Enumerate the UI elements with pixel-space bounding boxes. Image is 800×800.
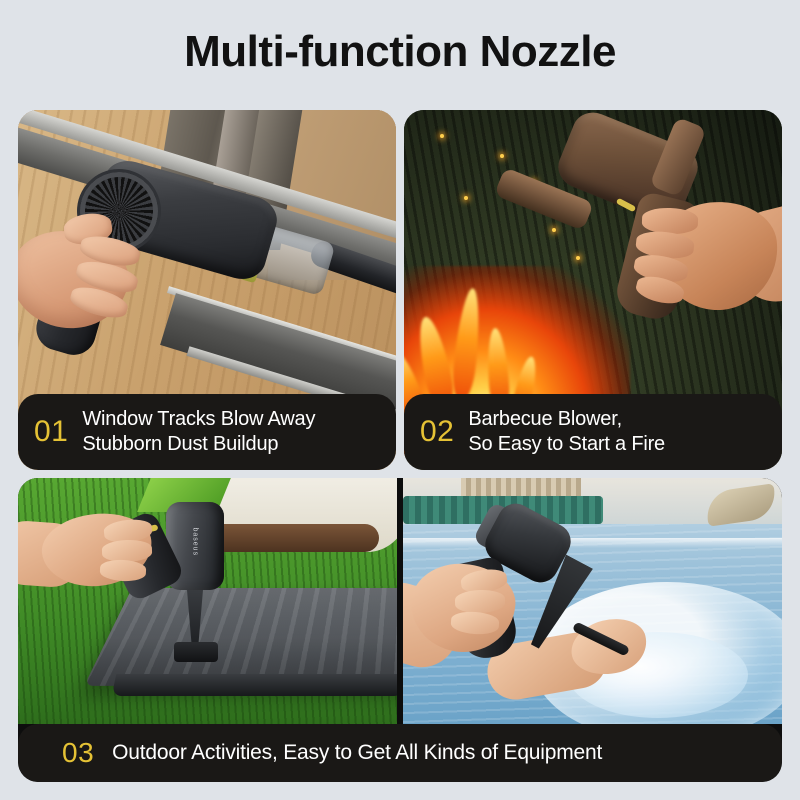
feature-number-02: 02	[420, 417, 454, 447]
feature-number-01: 01	[34, 417, 68, 447]
mattress-valve	[174, 642, 218, 662]
feature-caption-03: 03 Outdoor Activities, Easy to Get All K…	[18, 724, 782, 782]
brand-logo: baseus	[191, 528, 200, 554]
feature-photo-camping-mat: baseus	[18, 478, 397, 724]
feature-text-02-line2: So Easy to Start a Fire	[468, 432, 665, 457]
spark	[576, 256, 580, 260]
feature-number-03: 03	[62, 739, 94, 767]
feature-text-02-line1: Barbecue Blower,	[468, 408, 622, 430]
mattress-edge	[112, 674, 397, 696]
spark	[464, 196, 468, 200]
feature-caption-01: 01 Window Tracks Blow Away Stubborn Dust…	[18, 394, 396, 470]
feature-row-top: 01 Window Tracks Blow Away Stubborn Dust…	[18, 110, 782, 470]
feature-photo-pool-float	[403, 478, 782, 724]
feature-card-02[interactable]: 02 Barbecue Blower, So Easy to Start a F…	[404, 110, 782, 470]
sleeping-bag	[199, 524, 379, 552]
inflatable-mattress	[84, 588, 397, 686]
spark	[552, 228, 556, 232]
feature-photo-pair: baseus	[18, 478, 782, 724]
feature-grid: 01 Window Tracks Blow Away Stubborn Dust…	[18, 110, 782, 782]
feature-caption-02: 02 Barbecue Blower, So Easy to Start a F…	[404, 394, 782, 470]
feature-text-01-line2: Stubborn Dust Buildup	[82, 432, 315, 457]
feature-text-01-line1: Window Tracks Blow Away	[82, 408, 315, 430]
pool-edge	[403, 538, 782, 548]
page-title: Multi-function Nozzle	[0, 30, 800, 74]
feature-card-01[interactable]: 01 Window Tracks Blow Away Stubborn Dust…	[18, 110, 396, 470]
feature-text-03: Outdoor Activities, Easy to Get All Kind…	[112, 740, 602, 766]
feature-text-01: Window Tracks Blow Away Stubborn Dust Bu…	[82, 407, 315, 457]
spark	[440, 134, 444, 138]
spark	[500, 154, 504, 158]
feature-card-03[interactable]: baseus	[18, 478, 782, 782]
feature-text-02: Barbecue Blower, So Easy to Start a Fire	[468, 407, 665, 457]
feature-row-bottom: baseus	[18, 478, 782, 782]
